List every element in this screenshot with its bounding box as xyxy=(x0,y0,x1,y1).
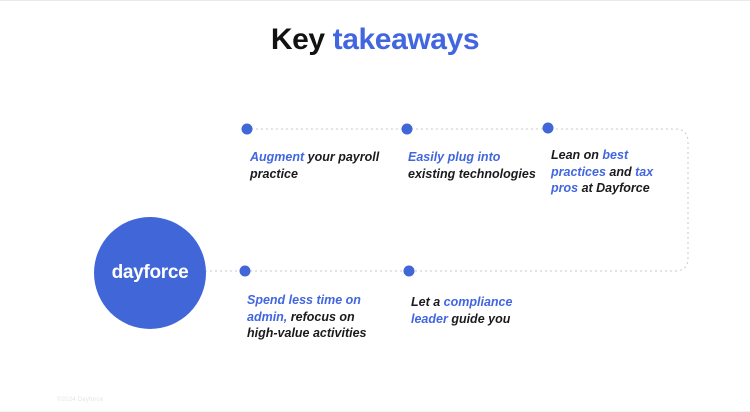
takeaway-segment: Lean on xyxy=(551,148,602,162)
dayforce-wordmark: dayforce xyxy=(112,262,189,284)
takeaway-segment: Augment xyxy=(250,150,308,164)
takeaway-augment-payroll-practice: Augment your payroll practice xyxy=(250,149,380,182)
takeaway-segment: at Dayforce xyxy=(582,181,650,195)
takeaway-segment: Let a xyxy=(411,295,444,309)
node-bottom-1-dot xyxy=(240,266,251,277)
takeaway-segment: Easily plug into xyxy=(408,150,500,164)
connector-diagram xyxy=(0,1,750,412)
page-title: Key takeaways xyxy=(0,23,750,57)
takeaway-easily-plug-into-existing-technologies: Easily plug into existing technologies xyxy=(408,149,538,182)
slide-canvas: Key takeaways dayforce Augment your payr… xyxy=(0,0,750,412)
footer-copyright: ©2024 Dayforce xyxy=(57,397,103,403)
takeaway-lean-on-best-practices-tax-pros: Lean on best practices and tax pros at D… xyxy=(551,147,671,197)
takeaway-let-compliance-leader-guide-you: Let a compliance leader guide you xyxy=(411,294,531,327)
node-top-2-dot xyxy=(402,124,413,135)
takeaway-segment: guide you xyxy=(451,312,510,326)
dayforce-logo: dayforce xyxy=(94,217,206,329)
takeaway-segment: existing technologies xyxy=(408,167,536,181)
takeaway-segment: and xyxy=(609,165,635,179)
takeaway-spend-less-time-on-admin: Spend less time on admin, refocus on hig… xyxy=(247,292,387,342)
node-bottom-2-dot xyxy=(404,266,415,277)
node-top-1-dot xyxy=(242,124,253,135)
page-title-accent: takeaways xyxy=(333,23,480,56)
page-title-dark: Key xyxy=(271,23,325,56)
node-top-3-dot xyxy=(543,123,554,134)
